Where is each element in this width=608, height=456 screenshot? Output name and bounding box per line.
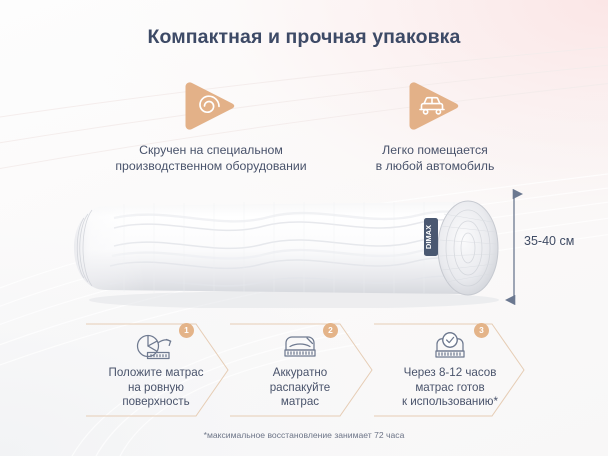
step-3-badge: 3 (474, 323, 489, 338)
svg-text:DIMAX: DIMAX (424, 225, 433, 249)
feature-spun: Скручен на специальном производственном … (86, 78, 336, 174)
dimension-label: 35-40 см (524, 234, 574, 248)
mattress-check-icon (374, 330, 526, 369)
page-title: Компактная и прочная упаковка (0, 26, 608, 49)
step-card-1: Положите матрас на ровную поверхность 1 (86, 322, 242, 418)
unrolling-mattress-icon (86, 330, 226, 369)
spiral-in-triangle-icon (180, 78, 242, 134)
step-3-text: Через 8-12 часов матрас готов к использо… (374, 366, 526, 410)
step-1-text: Положите матрас на ровную поверхность (86, 366, 226, 410)
step-2-badge: 2 (323, 323, 338, 338)
feature-spun-caption: Скручен на специальном производственном … (86, 143, 336, 174)
infographic-canvas: Компактная и прочная упаковка Скручен на… (0, 0, 608, 456)
step-card-2: Аккуратно распакуйте матрас 2 (230, 322, 386, 418)
step-2-text: Аккуратно распакуйте матрас (230, 366, 370, 410)
car-in-triangle-icon (404, 78, 466, 134)
feature-car-caption: Легко помещается в любой автомобиль (330, 143, 540, 174)
roll-height-dimension: 35-40 см (500, 186, 600, 308)
rolled-mattress-image: DIMAX (44, 188, 514, 308)
product-brand-tag: DIMAX (424, 218, 438, 256)
feature-car: Легко помещается в любой автомобиль (330, 78, 540, 174)
step-card-3: Через 8-12 часов матрас готов к использо… (374, 322, 530, 418)
footnote: *максимальное восстановление занимает 72… (0, 430, 608, 440)
steps-row: Положите матрас на ровную поверхность 1 (86, 322, 526, 418)
mattress-package-icon (230, 330, 370, 369)
step-1-badge: 1 (179, 323, 194, 338)
